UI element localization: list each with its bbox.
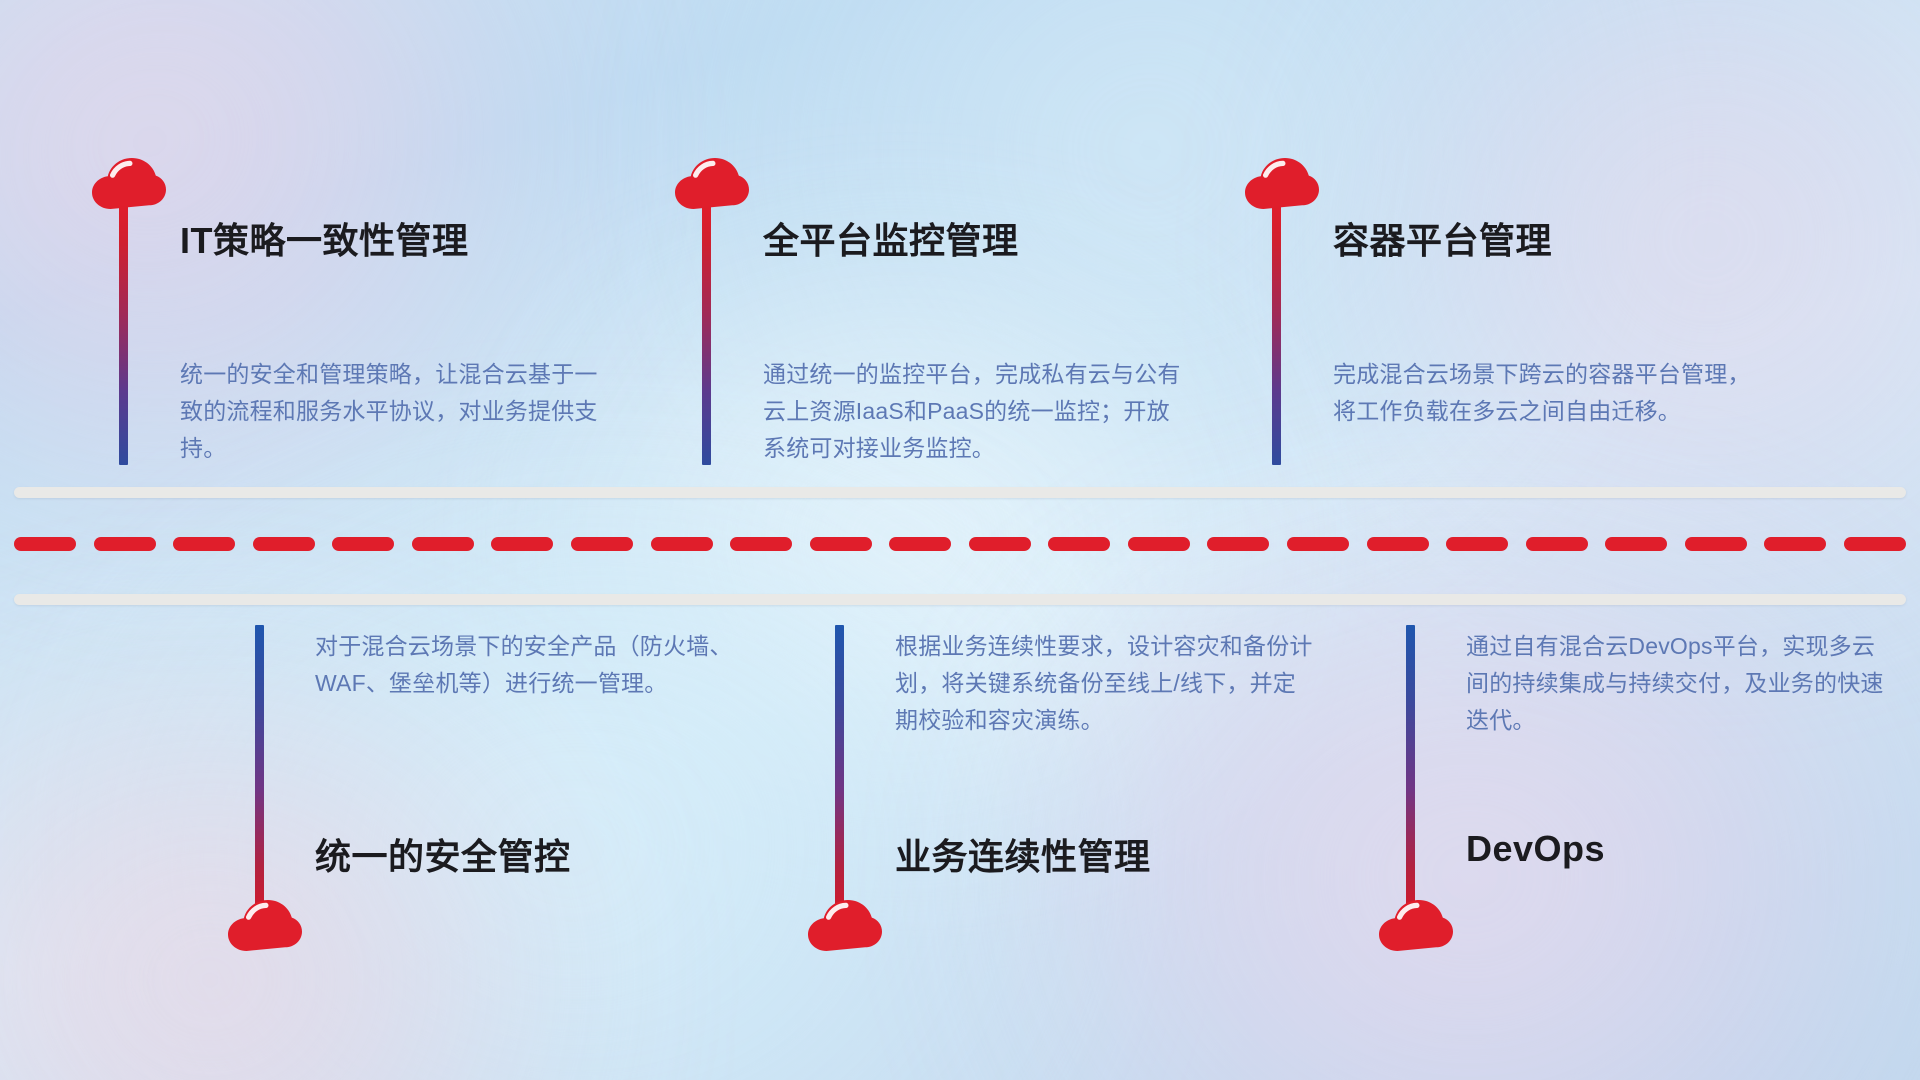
road-dash	[253, 537, 315, 551]
topic-card-business-continuity: 根据业务连续性要求，设计容灾和备份计划，将关键系统备份至线上/线下，并定期校验和…	[700, 600, 1400, 980]
topic-heading: DevOps	[1466, 828, 1605, 870]
road-dash	[14, 537, 76, 551]
road-dash	[491, 537, 553, 551]
road-dash	[1526, 537, 1588, 551]
road-dash	[332, 537, 394, 551]
stem-line	[119, 205, 128, 465]
cloud-pin-icon	[808, 900, 882, 952]
topic-card-full-platform-monitoring: 全平台监控管理 通过统一的监控平台，完成私有云与公有云上资源IaaS和PaaS的…	[640, 0, 1260, 480]
road-dash	[969, 537, 1031, 551]
topic-card-unified-security: 对于混合云场景下的安全产品（防火墙、WAF、堡垒机等）进行统一管理。 统一的安全…	[0, 600, 700, 980]
topic-heading: 容器平台管理	[1333, 212, 1552, 264]
road-dash	[730, 537, 792, 551]
cloud-pin-icon	[1245, 158, 1319, 210]
stem-line	[255, 625, 264, 910]
road-dash	[1128, 537, 1190, 551]
road-dash	[173, 537, 235, 551]
infographic-canvas: IT策略一致性管理 统一的安全和管理策略，让混合云基于一致的流程和服务水平协议，…	[0, 0, 1920, 1080]
stem-line	[835, 625, 844, 910]
road-dash	[1764, 537, 1826, 551]
topic-heading: 全平台监控管理	[763, 212, 1019, 264]
road-dash	[412, 537, 474, 551]
topic-heading: IT策略一致性管理	[180, 212, 469, 264]
cloud-pin-icon	[228, 900, 302, 952]
topic-body: 对于混合云场景下的安全产品（防火墙、WAF、堡垒机等）进行统一管理。	[315, 628, 735, 702]
stem-line	[1406, 625, 1415, 910]
road-dash	[810, 537, 872, 551]
topic-body: 通过自有混合云DevOps平台，实现多云间的持续集成与持续交付，及业务的快速迭代…	[1466, 628, 1886, 739]
topic-card-devops: 通过自有混合云DevOps平台，实现多云间的持续集成与持续交付，及业务的快速迭代…	[1400, 600, 1920, 980]
road-dash	[1446, 537, 1508, 551]
road-dash	[1844, 537, 1906, 551]
road-dash	[651, 537, 713, 551]
topic-body: 完成混合云场景下跨云的容器平台管理，将工作负载在多云之间自由迁移。	[1333, 356, 1753, 430]
topic-body: 根据业务连续性要求，设计容灾和备份计划，将关键系统备份至线上/线下，并定期校验和…	[895, 628, 1315, 739]
road-dash	[1207, 537, 1269, 551]
stem-line	[702, 205, 711, 465]
road-dash	[94, 537, 156, 551]
road-divider	[0, 487, 1920, 607]
stem-line	[1272, 205, 1281, 465]
road-dash	[1685, 537, 1747, 551]
cloud-pin-icon	[92, 158, 166, 210]
topic-body: 通过统一的监控平台，完成私有云与公有云上资源IaaS和PaaS的统一监控；开放系…	[763, 356, 1183, 467]
topic-body: 统一的安全和管理策略，让混合云基于一致的流程和服务水平协议，对业务提供支持。	[180, 356, 600, 467]
road-dash	[889, 537, 951, 551]
road-dash	[1048, 537, 1110, 551]
road-dash	[1287, 537, 1349, 551]
cloud-pin-icon	[1379, 900, 1453, 952]
topic-heading: 统一的安全管控	[315, 828, 571, 880]
road-dash	[1367, 537, 1429, 551]
road-dash-row	[14, 537, 1906, 551]
road-dash	[571, 537, 633, 551]
road-line-top	[14, 487, 1906, 498]
topic-card-it-policy-consistency: IT策略一致性管理 统一的安全和管理策略，让混合云基于一致的流程和服务水平协议，…	[0, 0, 640, 480]
cloud-pin-icon	[675, 158, 749, 210]
road-dash	[1605, 537, 1667, 551]
topic-heading: 业务连续性管理	[895, 828, 1151, 880]
topic-card-container-platform: 容器平台管理 完成混合云场景下跨云的容器平台管理，将工作负载在多云之间自由迁移。	[1205, 0, 1845, 480]
